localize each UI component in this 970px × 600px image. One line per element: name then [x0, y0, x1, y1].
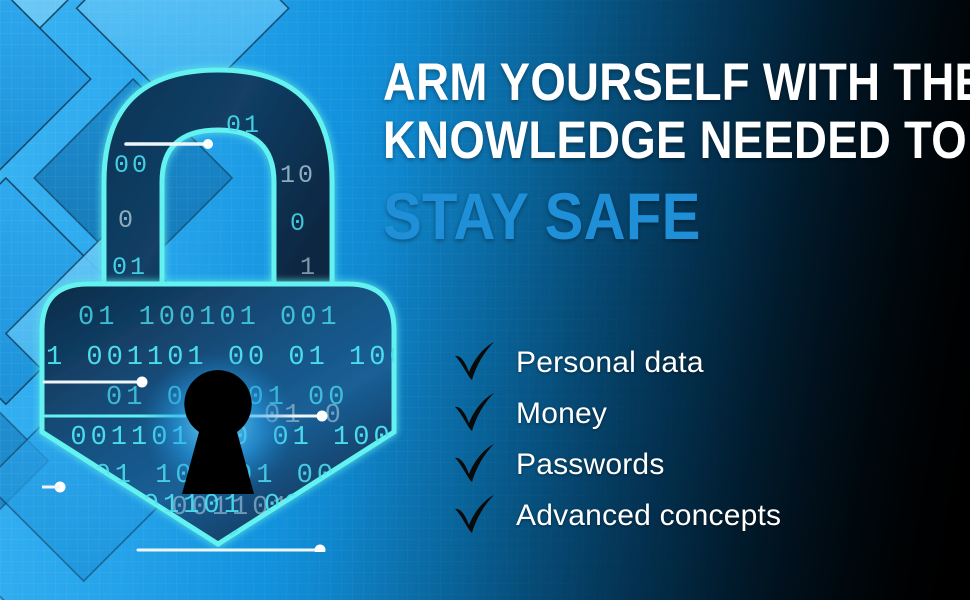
svg-text:1: 1 [300, 253, 318, 282]
svg-text:10: 10 [280, 161, 316, 190]
check-icon [452, 339, 496, 383]
checklist-item-label: Money [516, 388, 607, 439]
check-icon [452, 441, 496, 485]
checklist: Personal data Money Passwords Advanced c… [452, 337, 922, 541]
svg-text:0: 0 [290, 209, 308, 238]
check-icon [452, 390, 496, 434]
padlock-body: 01 100101 001 1 001101 00 01 100 01 0011… [30, 284, 408, 552]
svg-text:0: 0 [118, 206, 136, 235]
headline-line-1: ARM YOURSELF WITH THE [383, 54, 852, 112]
svg-text:00: 00 [114, 151, 150, 180]
headline: ARM YOURSELF WITH THE KNOWLEDGE NEEDED T… [383, 54, 928, 254]
svg-text:01: 01 [112, 253, 148, 282]
checklist-item-label: Passwords [516, 439, 665, 490]
check-icon [452, 492, 496, 536]
svg-text:01 100101 001: 01 100101 001 [78, 303, 341, 333]
headline-line-2: KNOWLEDGE NEEDED TO [383, 112, 852, 170]
checklist-item: Money [452, 388, 922, 439]
checklist-item: Passwords [452, 439, 922, 490]
checklist-item-label: Advanced concepts [516, 490, 781, 541]
security-awareness-banner: 00 01 10 0 0 01 1 00 0 01 100101 [0, 0, 970, 600]
svg-text:01 001101 00 01 1: 01 001101 00 01 1 [62, 491, 405, 521]
checklist-item-label: Personal data [516, 337, 704, 388]
checklist-item: Advanced concepts [452, 490, 922, 541]
checklist-item: Personal data [452, 337, 922, 388]
headline-line-3-accent: STAY SAFE [383, 178, 863, 254]
padlock-graphic: 00 01 10 0 0 01 1 00 0 01 100101 [28, 52, 408, 552]
